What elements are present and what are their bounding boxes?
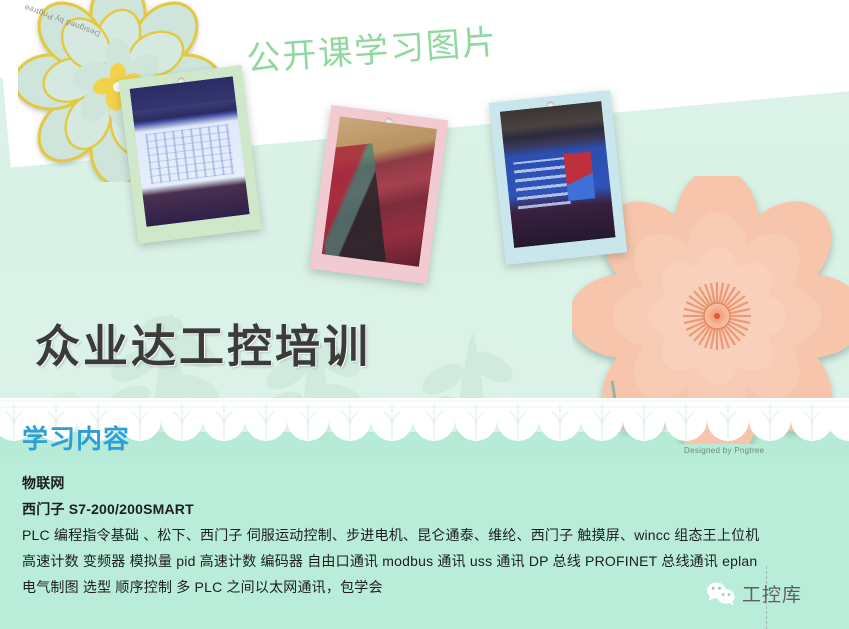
section-title-learning-content: 学习内容: [22, 419, 130, 456]
photo-lecture-slide[interactable]: [118, 65, 261, 244]
content-line-3: PLC 编程指令基础 、松下、西门子 伺服运动控制、步进电机、昆仑通泰、维纶、西…: [22, 522, 832, 548]
photo-image-presentation-hall: [500, 101, 616, 248]
content-line-4: 高速计数 变频器 模拟量 pid 高速计数 编码器 自由口通讯 modbus 通…: [22, 548, 832, 574]
footer-wechat-account[interactable]: 工控库: [706, 580, 802, 607]
wechat-icon: [706, 582, 736, 606]
page-title-main: 众业达工控培训: [35, 310, 371, 375]
watermark-middle: Designed by Pngtree: [684, 446, 764, 455]
content-line-1: 物联网: [22, 470, 832, 496]
poster-canvas: 公开课学习图片 众业达工控培训 学习内容 物联网 西门子 S7-200/200S…: [0, 0, 849, 629]
content-line-2: 西门子 S7-200/200SMART: [22, 496, 832, 522]
photo-presentation-hall[interactable]: [489, 90, 627, 265]
photo-audience[interactable]: [310, 105, 449, 284]
photo-image-lecture-slide: [130, 76, 250, 227]
photo-image-audience: [322, 116, 437, 267]
wechat-account-name: 工控库: [742, 580, 802, 607]
